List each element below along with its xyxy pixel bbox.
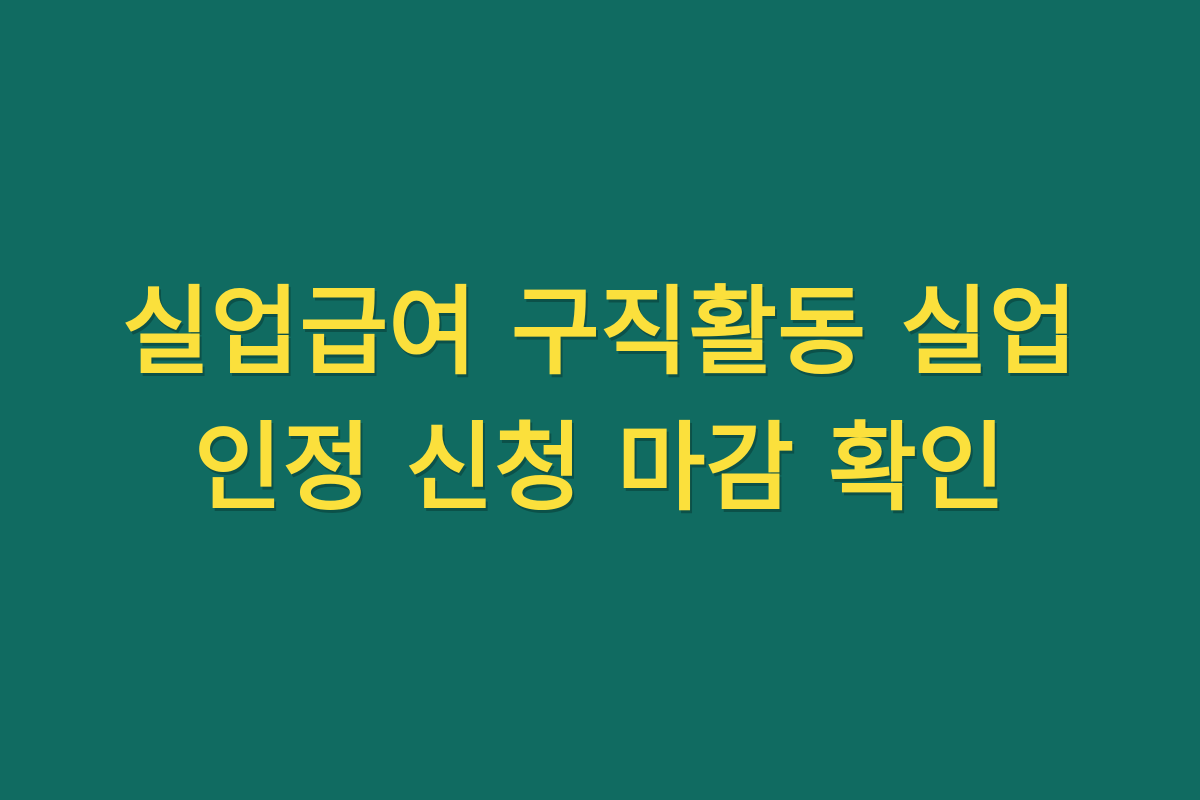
text-banner: 실업급여 구직활동 실업 인정 신청 마감 확인 xyxy=(0,0,1200,800)
headline-line-1: 실업급여 구직활동 실업 xyxy=(0,264,1200,400)
headline-line-2: 인정 신청 마감 확인 xyxy=(0,400,1200,536)
